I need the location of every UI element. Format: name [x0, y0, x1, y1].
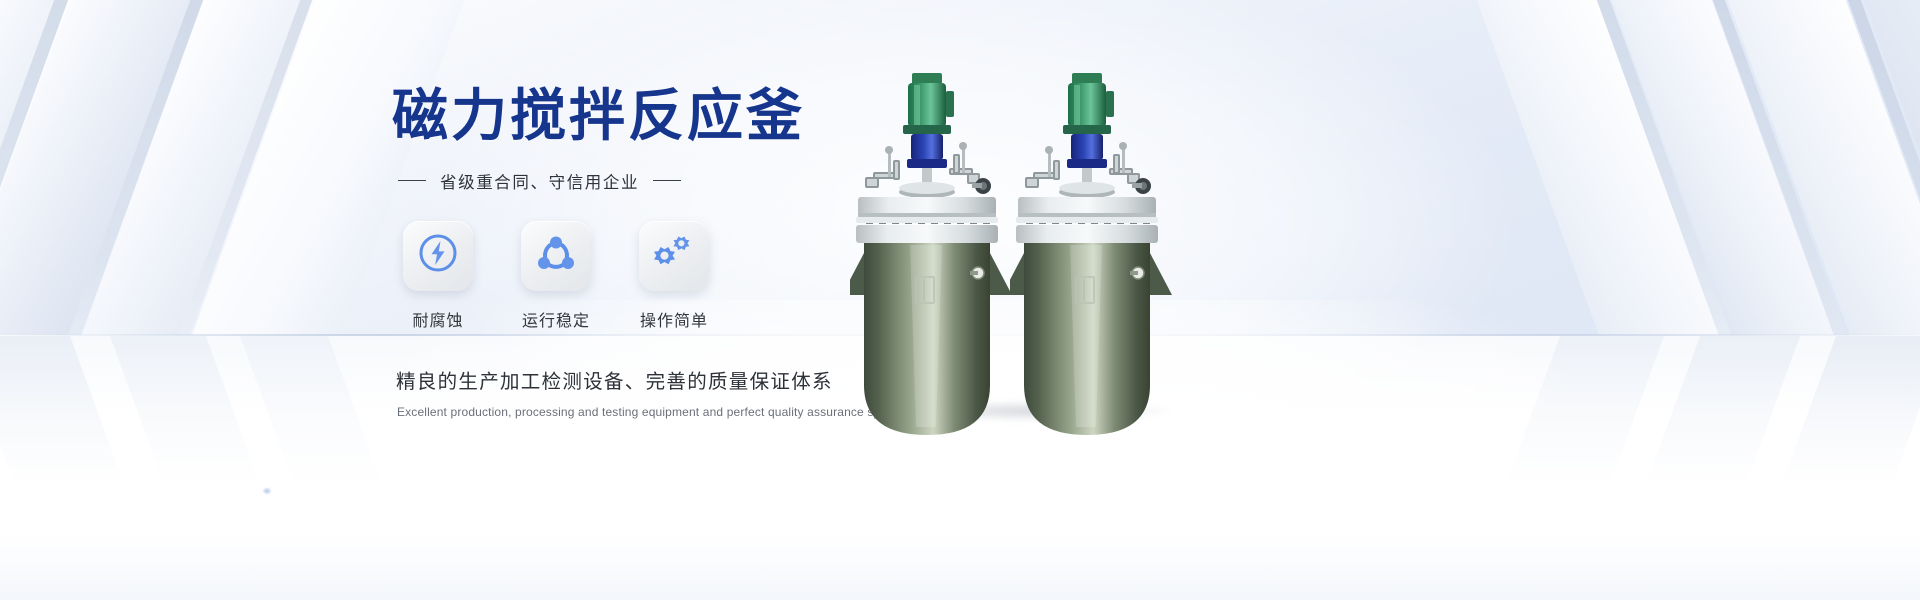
feature-icon-tile	[639, 221, 709, 291]
feature-item-stable-operation[interactable]: 运行稳定	[516, 221, 596, 331]
product-image-magnetic-stirring-reactor	[840, 55, 1220, 475]
lightning-bolt-icon	[416, 231, 460, 280]
feature-label: 运行稳定	[522, 307, 590, 331]
feature-item-corrosion-resistant[interactable]: 耐腐蚀	[398, 221, 478, 331]
feature-icon-tile	[521, 221, 591, 291]
decorative-speck	[262, 487, 272, 495]
tagline-chinese: 精良的生产加工检测设备、完善的质量保证体系	[396, 365, 862, 394]
reactor-unit-2	[1010, 55, 1190, 455]
subtitle-dash-right	[653, 180, 681, 182]
subtitle-row: 省级重合同、守信用企业	[398, 169, 862, 193]
reactor-unit-1	[850, 55, 1030, 455]
share-nodes-icon	[534, 231, 578, 280]
promo-banner: 磁力搅拌反应釜 省级重合同、守信用企业 耐腐蚀	[0, 0, 1920, 600]
subtitle-dash-left	[398, 180, 426, 182]
gears-icon	[651, 230, 697, 281]
page-title: 磁力搅拌反应釜	[392, 86, 862, 149]
banner-text-block: 磁力搅拌反应釜 省级重合同、守信用企业 耐腐蚀	[392, 86, 862, 419]
subtitle-text: 省级重合同、守信用企业	[440, 169, 639, 193]
feature-label: 操作简单	[640, 307, 708, 331]
feature-label: 耐腐蚀	[412, 307, 463, 331]
feature-icon-tile	[403, 221, 473, 291]
feature-list: 耐腐蚀 运行稳定	[398, 221, 862, 331]
feature-item-easy-operation[interactable]: 操作简单	[634, 221, 714, 331]
tagline-english: Excellent production, processing and tes…	[397, 405, 862, 419]
